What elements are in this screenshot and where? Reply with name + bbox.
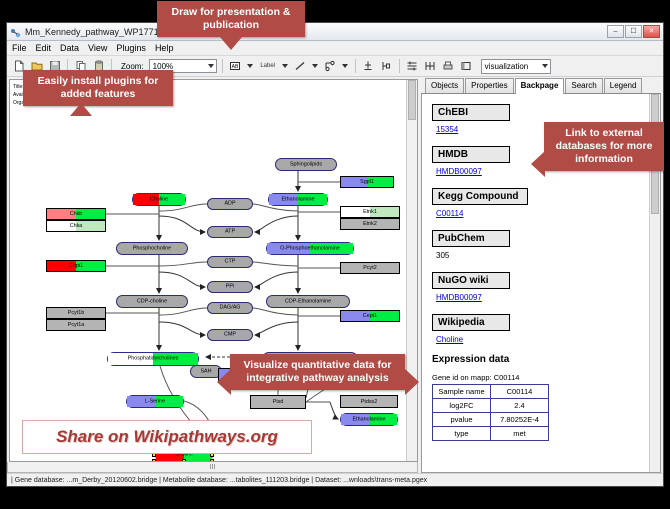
expression-data-heading: Expression data: [432, 354, 660, 365]
callout-visualize-arrow-right: [405, 369, 419, 395]
callout-link-text: Link to external databases for more info…: [556, 127, 653, 165]
node-label: DAG/AG: [208, 305, 252, 310]
node-label: Etnk1: [341, 209, 399, 215]
metabolite-node[interactable]: Choline: [132, 193, 186, 206]
db-entry: NuGO wikiHMDB00097: [432, 270, 660, 302]
node-label: Etnk2: [341, 221, 399, 227]
gene-node[interactable]: Pcyt1a: [46, 319, 106, 331]
gene-node[interactable]: Pisd: [250, 395, 306, 409]
callout-plugins-text: Easily install plugins for added feature…: [38, 75, 159, 100]
sidebar-tab-legend[interactable]: Legend: [604, 78, 643, 93]
chevron-down-icon: [342, 64, 348, 68]
node-label: Phosphocholine: [117, 246, 187, 251]
node-label: ADP: [208, 201, 252, 206]
expr-value: 7.80252E-4: [491, 413, 549, 427]
canvas-horizontal-scrollbar[interactable]: III: [7, 462, 418, 473]
metabolite-node[interactable]: PPi: [207, 281, 253, 293]
node-label: ATP: [208, 229, 252, 234]
menu-bar: File Edit Data View Plugins Help: [7, 41, 663, 56]
node-label: CTP: [208, 259, 252, 264]
sidebar-tab-objects[interactable]: Objects: [425, 78, 464, 93]
db-header-hmdb: HMDB: [432, 146, 510, 163]
chevron-down-icon: [247, 64, 253, 68]
expr-label: log2FC: [433, 399, 491, 413]
svg-text:AB: AB: [232, 64, 239, 70]
canvas-vscroll-thumb[interactable]: [408, 80, 416, 120]
expr-label: type: [433, 427, 491, 441]
db-entry: Kegg CompoundC00114: [432, 186, 660, 218]
db-value-wikipedia[interactable]: Choline: [436, 335, 660, 344]
node-label: Choline: [133, 197, 185, 202]
align-icon[interactable]: [405, 59, 420, 74]
metabolite-node[interactable]: L-Serine: [126, 395, 184, 408]
node-label: Sgpl1: [341, 179, 393, 185]
distribute-icon[interactable]: [423, 59, 438, 74]
gene-node[interactable]: Chpt1: [46, 260, 106, 272]
node-label: Sphingolipids: [276, 162, 336, 167]
bracket-icon[interactable]: [379, 59, 394, 74]
text-dropdown[interactable]: [246, 59, 255, 74]
callout-draw-arrow: [220, 37, 242, 50]
title-bar: Mm_Kennedy_pathway_WP1771_45176.gpml – ☐…: [7, 23, 663, 41]
menu-view[interactable]: View: [88, 43, 107, 53]
close-button[interactable]: ✕: [643, 25, 660, 38]
callout-draw: Draw for presentation & publication: [157, 1, 305, 37]
db-value-kegg-compound[interactable]: C00114: [436, 209, 660, 218]
pathway-canvas-container[interactable]: Title: Availa Organ SphingolipidsCholine…: [9, 79, 418, 462]
shape-dropdown[interactable]: [341, 59, 350, 74]
db-value-nugo-wiki[interactable]: HMDB00097: [436, 293, 660, 302]
gene-node[interactable]: Etnk1: [340, 206, 400, 218]
gene-node[interactable]: Etnk2: [340, 218, 400, 230]
node-label: Ethanolamine: [341, 417, 397, 422]
expression-table: Sample nameC00114log2FC2.4pvalue7.80252E…: [432, 384, 549, 441]
toolbar-separator-4: [355, 59, 356, 73]
node-label: CDP-choline: [117, 299, 187, 304]
callout-visualize-text: Visualize quantitative data for integrat…: [243, 359, 391, 384]
selection-handle[interactable]: [152, 459, 156, 462]
node-label: Ethanolamine: [269, 197, 327, 202]
db-value-pubchem: 305: [436, 251, 660, 260]
db-entry: WikipediaCholine: [432, 312, 660, 344]
chevron-down-icon: [208, 64, 214, 68]
label-tool[interactable]: Label: [258, 59, 278, 74]
pathway-canvas[interactable]: Title: Availa Organ SphingolipidsCholine…: [10, 80, 417, 461]
node-label: Phosphatidylcholines: [108, 356, 198, 361]
node-label: Chkb: [47, 211, 105, 217]
node-label: Cept1: [341, 313, 399, 319]
line-dropdown[interactable]: [311, 59, 320, 74]
selection-handle[interactable]: [210, 459, 214, 462]
visualization-combo[interactable]: visualization: [481, 59, 551, 74]
status-bar: | Gene database: ...m_Derby_20120602.bri…: [7, 473, 663, 486]
metabolite-node[interactable]: Sphingolipids: [275, 158, 337, 171]
gene-node[interactable]: Cept1: [340, 310, 400, 322]
sidebar-tab-search[interactable]: Search: [565, 78, 602, 93]
metabolite-node[interactable]: Phosphocholine: [116, 242, 188, 255]
label-dropdown[interactable]: [281, 59, 290, 74]
metabolite-node[interactable]: Ethanolamine: [268, 193, 328, 206]
metabolite-node[interactable]: CTP: [207, 256, 253, 268]
db-header-kegg-compound: Kegg Compound: [432, 188, 528, 205]
share-banner: Share on Wikipathways.org: [22, 420, 312, 454]
metabolite-node[interactable]: ATP: [207, 226, 253, 238]
shape-icon[interactable]: [323, 59, 338, 74]
db-header-nugo-wiki: NuGO wiki: [432, 272, 510, 289]
gene-id-line: Gene id on mapp: C00114: [432, 373, 660, 382]
db-entry: PubChem305: [432, 228, 660, 260]
anchor-icon[interactable]: [361, 59, 376, 74]
chevron-down-icon: [312, 64, 318, 68]
callout-link-arrow: [531, 151, 545, 177]
callout-visualize-arrow: [217, 369, 231, 395]
callout-plugins: Easily install plugins for added feature…: [23, 70, 173, 106]
toolbar-separator-3: [222, 59, 223, 73]
menu-edit[interactable]: Edit: [36, 43, 52, 53]
metabolite-node[interactable]: Ethanolamine: [340, 413, 398, 426]
node-label: PPi: [208, 284, 252, 289]
gene-node[interactable]: Chkb: [46, 208, 106, 220]
menu-file[interactable]: File: [12, 43, 27, 53]
line-icon[interactable]: [293, 59, 308, 74]
callout-plugins-arrow: [70, 103, 92, 116]
pathvisio-icon: [10, 26, 21, 37]
metabolite-node[interactable]: DAG/AG: [207, 302, 253, 314]
node-label: Ptdss2: [341, 399, 397, 405]
node-label: Pcyt1a: [47, 322, 105, 328]
db-header-chebi: ChEBI: [432, 104, 510, 121]
maximize-button[interactable]: ☐: [625, 25, 642, 38]
chevron-down-icon: [282, 64, 288, 68]
minimize-button[interactable]: –: [607, 25, 624, 38]
gene-node[interactable]: Pcyt1b: [46, 307, 106, 319]
chevron-down-icon: [542, 64, 548, 68]
canvas-vertical-scrollbar[interactable]: [406, 80, 417, 461]
visualization-value: visualization: [485, 62, 529, 71]
gene-node[interactable]: Sgpl1: [340, 176, 394, 188]
node-label: CDP-Ethanolamine: [267, 299, 349, 304]
sidebar-tab-properties[interactable]: Properties: [465, 78, 513, 93]
sidebar-tab-backpage[interactable]: Backpage: [515, 78, 565, 94]
node-label: O-Phosphoethanolamine: [267, 246, 353, 251]
callout-link: Link to external databases for more info…: [544, 122, 664, 171]
db-header-wikipedia: Wikipedia: [432, 314, 510, 331]
table-row: Sample nameC00114: [433, 385, 549, 399]
node-label: Pcyt2: [341, 265, 399, 271]
gene-node[interactable]: Ptdss2: [340, 395, 398, 408]
table-row: pvalue7.80252E-4: [433, 413, 549, 427]
node-label: Pisd: [251, 399, 305, 405]
print-icon[interactable]: [441, 59, 456, 74]
node-label: Chpt1: [47, 263, 105, 269]
sidebar-icon[interactable]: [459, 59, 474, 74]
selection-handle[interactable]: [182, 459, 186, 462]
window-controls: – ☐ ✕: [607, 25, 660, 38]
gene-node[interactable]: Pcyt2: [340, 262, 400, 274]
node-label: Pcyt1b: [47, 310, 105, 316]
sidebar-tabs: ObjectsPropertiesBackpageSearchLegend: [421, 79, 661, 94]
share-banner-text: Share on Wikipathways.org: [56, 427, 278, 447]
metabolite-node[interactable]: CMP: [207, 329, 253, 341]
callout-draw-text: Draw for presentation & publication: [171, 6, 290, 31]
table-row: typemet: [433, 427, 549, 441]
metabolite-node[interactable]: CDP-Ethanolamine: [266, 295, 350, 308]
node-label: CMP: [208, 332, 252, 337]
metabolite-node[interactable]: O-Phosphoethanolamine: [266, 242, 354, 255]
gene-node[interactable]: Chka: [46, 220, 106, 232]
menu-help[interactable]: Help: [155, 43, 174, 53]
expr-label: Sample name: [433, 385, 491, 399]
text-label-icon[interactable]: AB: [228, 59, 243, 74]
toolbar-separator-5: [399, 59, 400, 73]
expr-value: C00114: [491, 385, 549, 399]
metabolite-node[interactable]: CDP-choline: [116, 295, 188, 308]
expr-value: 2.4: [491, 399, 549, 413]
callout-visualize: Visualize quantitative data for integrat…: [230, 354, 405, 390]
table-row: log2FC2.4: [433, 399, 549, 413]
expr-value: met: [491, 427, 549, 441]
node-label: L-Serine: [127, 399, 183, 404]
node-label: Chka: [47, 223, 105, 229]
db-header-pubchem: PubChem: [432, 230, 510, 247]
metabolite-node[interactable]: ADP: [207, 198, 253, 210]
metabolite-node[interactable]: Phosphatidylcholines: [107, 352, 199, 366]
expr-label: pvalue: [433, 413, 491, 427]
menu-data[interactable]: Data: [60, 43, 79, 53]
menu-plugins[interactable]: Plugins: [116, 43, 146, 53]
